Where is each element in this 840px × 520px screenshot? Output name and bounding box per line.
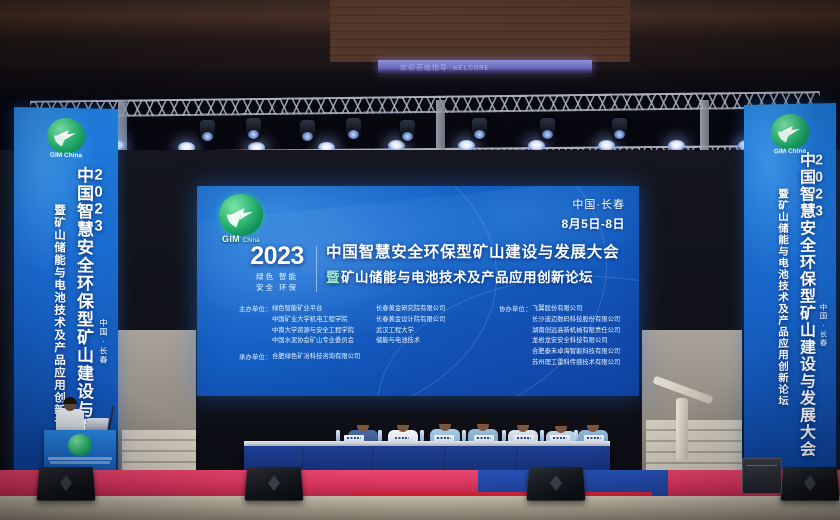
cohost-column: 飞翼股份有限公司 长沙迪迈数码科技股份有限公司 湖南创远高新机械有限责任公司 龙… (532, 304, 639, 369)
gim-circle-icon (771, 114, 809, 151)
nameplate (434, 435, 454, 442)
event-slogan: 绿色 智能 安全 环保 (245, 272, 309, 294)
front-floor (0, 496, 840, 520)
cohost-label: 协办单位 (483, 304, 525, 369)
podium-text-line-2 (50, 461, 110, 464)
event-title-row: 2023 绿色 智能 安全 环保 中国智慧安全环保型矿山建设与发展大会 暨矿山储… (245, 244, 631, 294)
cohost-item: 湖南创远高新机械有限责任公司 (532, 326, 639, 337)
gim-logo-text: GIM China (43, 152, 89, 160)
banner-right-location: 中国·长春 (819, 303, 827, 347)
cohost-item: 苏州理工雷科传感技术有限公司 (532, 358, 639, 369)
panelist-hair (586, 418, 600, 425)
event-year-block: 2023 绿色 智能 安全 环保 (245, 244, 309, 294)
water-bottle (336, 430, 340, 441)
banner-left-location: 中国·长春 (99, 319, 107, 365)
panelist-hair (476, 417, 490, 424)
water-bottle (378, 430, 382, 441)
event-year: 2023 (245, 244, 309, 269)
conference-stage-photo: 欢迎莅临指导 WELCOME GIM China (0, 0, 840, 520)
event-title-line-1: 中国智慧安全环保型矿山建设与发展大会 (326, 244, 631, 262)
host-colon: ： (265, 304, 272, 347)
moving-head-light (472, 118, 487, 140)
stage-monitor-speaker (527, 467, 586, 501)
event-date: 8月5日-8日 (561, 215, 625, 232)
water-bottle (502, 430, 506, 441)
nameplate (392, 435, 412, 442)
gim-circle-icon (47, 118, 85, 155)
main-led-screen: GIM China 中国·长春 8月5日-8日 2023 绿色 智能 安全 环保… (197, 186, 639, 396)
organizer-name: 合肥绿色矿冶科技咨询有限公司 (272, 352, 360, 363)
water-bottle (574, 430, 578, 441)
moving-head-light (246, 118, 261, 140)
panelist-hair (516, 418, 530, 425)
moving-head-light (200, 120, 215, 142)
host-item: 中国水泥协会矿山专业委员会 (272, 336, 376, 347)
panelist-hair (554, 419, 568, 426)
host-column-1: 绿色智能矿业平台 中国矿业大学机电工程学院 中南大学资源与安全工程学院 中国水泥… (272, 304, 376, 347)
gim-logo-icon: GIM China (767, 114, 813, 157)
panelist-hair (356, 418, 370, 425)
gim-abbr: GIM (222, 234, 240, 244)
water-bottle (420, 430, 424, 441)
slogan-line-2: 安全 环保 (245, 283, 309, 294)
podium-speaker (56, 398, 84, 434)
moving-head-light (300, 120, 315, 142)
slogan-line-1: 绿色 智能 (245, 272, 309, 283)
host-item: 长春黄金设计院有限公司 (376, 315, 472, 326)
event-subtitle-text: 矿山储能与电池技术及产品应用创新论坛 (341, 270, 593, 285)
event-title-main: 中国智慧安全环保型矿山建设与发展大会 暨矿山储能与电池技术及产品应用创新论坛 (326, 244, 631, 286)
nameplate (584, 435, 604, 442)
host-item: 绿色智能矿业平台 (272, 304, 376, 315)
truss-vertical-right (700, 100, 709, 152)
banner-right: GIM China 2023 中国智慧安全环保型矿山建设与发展大会 暨矿山储能与… (744, 103, 836, 491)
stage-monitor-speaker (781, 467, 840, 501)
panelist-hair (396, 418, 410, 425)
moving-head-light (612, 118, 627, 140)
host-item: 武汉工程大学 (376, 326, 472, 337)
podium-gim-logo-icon (68, 434, 92, 456)
flight-case (742, 458, 782, 494)
banner-right-subtitle: 暨矿山储能与电池技术及产品应用创新论坛 (777, 188, 788, 407)
panelist-hair (438, 417, 452, 424)
truss-vertical-mid (436, 100, 445, 152)
sponsor-block: 主办单位 ： 绿色智能矿业平台 中国矿业大学机电工程学院 中南大学资源与安全工程… (223, 304, 625, 365)
host-item: 长春黄金研究院有限公司 (376, 304, 472, 315)
cohost-item: 合肥泰禾卓海智能科技有限公司 (532, 347, 639, 358)
event-location-block: 中国·长春 8月5日-8日 (561, 196, 625, 232)
event-title-line-2: 暨矿山储能与电池技术及产品应用创新论坛 (326, 266, 631, 286)
cohost-item: 飞翼股份有限公司 (532, 304, 639, 315)
event-city: 中国·长春 (561, 196, 625, 212)
moving-head-light (400, 120, 415, 142)
ceiling-brick-panel (330, 0, 630, 62)
title-amp: 暨 (326, 270, 340, 285)
water-bottle (540, 430, 544, 441)
cohost-group: 协办单位 ： 飞翼股份有限公司 长沙迪迈数码科技股份有限公司 湖南创远高新机械有… (483, 304, 639, 369)
nameplate (514, 435, 534, 442)
banner-right-title: 中国智慧安全环保型矿山建设与发展大会 (797, 152, 813, 458)
balustrade-right (676, 398, 688, 460)
gim-circle-icon (219, 194, 263, 236)
title-divider (316, 246, 317, 292)
host-item: 中南大学资源与安全工程学院 (272, 326, 376, 337)
host-column-2: 长春黄金研究院有限公司 长春黄金设计院有限公司 武汉工程大学 储能与电池技术 (376, 304, 472, 347)
organizer-colon: ： (265, 352, 272, 363)
gim-logo-icon: GIM China (213, 194, 269, 246)
water-bottle (462, 430, 466, 441)
cohost-item: 长沙迪迈数码科技股份有限公司 (532, 315, 639, 326)
stage-monitor-speaker (37, 467, 96, 501)
nameplate (344, 435, 364, 442)
cohost-item: 龙岩龙安安全科技有限公司 (532, 336, 639, 347)
moving-head-light (540, 118, 555, 140)
nameplate (474, 435, 494, 442)
podium-text-line-1 (48, 457, 112, 460)
gim-logo-icon: GIM China (43, 118, 89, 161)
organizer-label: 承办单位 (223, 352, 265, 363)
speaker-hair (63, 397, 77, 404)
cohost-colon: ： (525, 304, 532, 369)
moving-head-light (346, 118, 361, 140)
host-label: 主办单位 (223, 304, 265, 347)
nameplate (550, 435, 570, 442)
host-item: 储能与电池技术 (376, 336, 472, 347)
host-item: 中国矿业大学机电工程学院 (272, 315, 376, 326)
stage-monitor-speaker (245, 467, 304, 501)
